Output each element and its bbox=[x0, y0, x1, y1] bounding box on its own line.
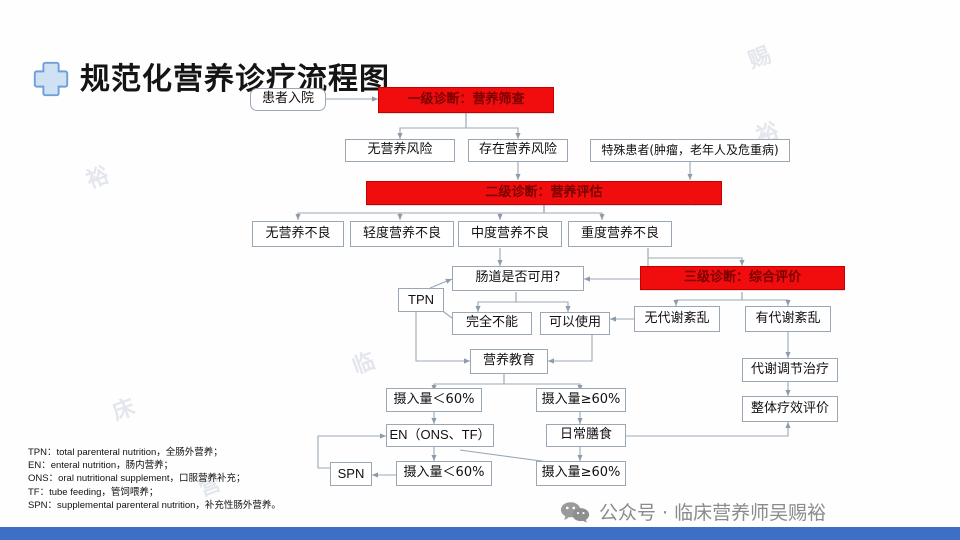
node-has-nutrition-risk[interactable]: 存在营养风险 bbox=[468, 139, 568, 162]
watermark: 裕 bbox=[81, 157, 113, 195]
legend-line: TPN：total parenteral nutrition，全肠外营养； bbox=[28, 446, 378, 459]
node-en-ons-tf[interactable]: EN（ONS、TF） bbox=[386, 424, 494, 447]
watermark: 床 bbox=[107, 389, 139, 427]
node-intake-below-60-second[interactable]: 摄入量＜60% bbox=[396, 461, 492, 486]
node-moderate-malnutrition[interactable]: 中度营养不良 bbox=[458, 221, 562, 247]
node-metabolic-therapy[interactable]: 代谢调节治疗 bbox=[742, 358, 838, 382]
medical-cross-icon bbox=[30, 58, 72, 100]
node-intake-above-60-first[interactable]: 摄入量≥60% bbox=[536, 388, 626, 412]
slide-canvas: 赐 裕 赐 临 床 营 裕 规范化营养诊疗流程图 bbox=[0, 0, 960, 540]
node-intake-below-60-first[interactable]: 摄入量＜60% bbox=[386, 388, 482, 412]
node-special-patients[interactable]: 特殊患者(肿瘤，老年人及危重病) bbox=[590, 139, 790, 162]
node-no-malnutrition[interactable]: 无营养不良 bbox=[252, 221, 344, 247]
node-gut-usable[interactable]: 可以使用 bbox=[540, 312, 610, 335]
wechat-icon bbox=[560, 501, 590, 523]
node-intake-above-60-second[interactable]: 摄入量≥60% bbox=[536, 461, 626, 486]
banner-level2-diagnosis[interactable]: 二级诊断：营养评估 bbox=[366, 181, 722, 205]
watermark: 临 bbox=[347, 343, 379, 381]
footer-brand: 公众号 · 临床营养师吴赐裕 bbox=[560, 498, 826, 525]
node-daily-diet[interactable]: 日常膳食 bbox=[546, 424, 626, 447]
legend-line: EN：enteral nutrition，肠内营养； bbox=[28, 459, 378, 472]
node-has-metabolic-disorder[interactable]: 有代谢紊乱 bbox=[745, 306, 831, 332]
footer-brand-text: 公众号 · 临床营养师吴赐裕 bbox=[599, 498, 826, 525]
abbreviation-legend: TPN：total parenteral nutrition，全肠外营养； EN… bbox=[28, 446, 378, 512]
node-no-metabolic-disorder[interactable]: 无代谢紊乱 bbox=[634, 306, 720, 332]
node-no-nutrition-risk[interactable]: 无营养风险 bbox=[345, 139, 455, 162]
page-header: 规范化营养诊疗流程图 bbox=[0, 24, 960, 82]
legend-line: SPN：supplemental parenteral nutrition，补充… bbox=[28, 499, 378, 512]
node-nutrition-education[interactable]: 营养教育 bbox=[470, 349, 548, 374]
node-patient-admission[interactable]: 患者入院 bbox=[250, 88, 326, 111]
node-overall-efficacy-eval[interactable]: 整体疗效评价 bbox=[742, 396, 838, 422]
node-severe-malnutrition[interactable]: 重度营养不良 bbox=[568, 221, 672, 247]
banner-level3-diagnosis[interactable]: 三级诊断：综合评价 bbox=[640, 266, 845, 290]
page-title: 规范化营养诊疗流程图 bbox=[80, 54, 390, 98]
node-tpn[interactable]: TPN bbox=[398, 288, 444, 312]
banner-level1-diagnosis[interactable]: 一级诊断：营养筛查 bbox=[378, 87, 554, 113]
legend-line: ONS：oral nutritional supplement，口服营养补充； bbox=[28, 472, 378, 485]
node-mild-malnutrition[interactable]: 轻度营养不良 bbox=[350, 221, 454, 247]
footer-accent-bar bbox=[0, 527, 960, 540]
node-gut-usable-question[interactable]: 肠道是否可用? bbox=[452, 266, 584, 291]
node-gut-unusable[interactable]: 完全不能 bbox=[452, 312, 532, 335]
legend-line: TF：tube feeding，管饲喂养； bbox=[28, 486, 378, 499]
